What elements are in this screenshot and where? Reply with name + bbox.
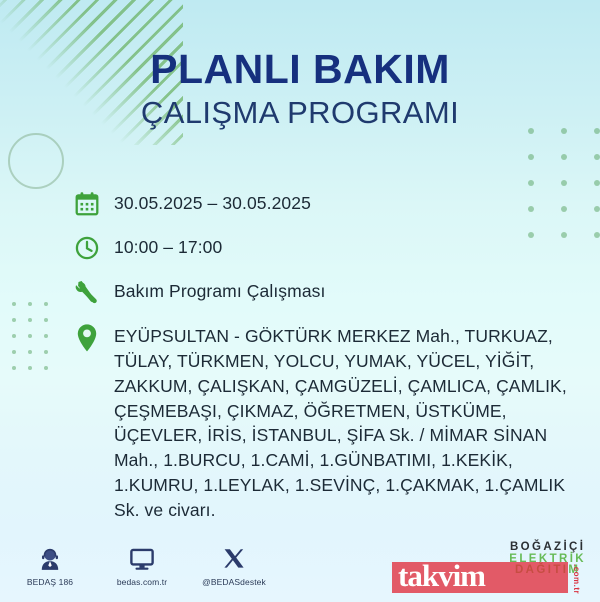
takvim-watermark: takvim .com.tr <box>392 556 592 600</box>
page-title: PLANLI BAKIM <box>0 48 600 91</box>
info-row-work-type: Bakım Programı Çalışması <box>74 278 584 305</box>
info-row-date: 30.05.2025 – 30.05.2025 <box>74 190 584 217</box>
circle-outline-decoration <box>8 133 64 189</box>
watermark-text: takvim <box>398 558 485 594</box>
date-range-text: 30.05.2025 – 30.05.2025 <box>114 190 311 215</box>
planned-maintenance-poster: PLANLI BAKIM ÇALIŞMA PROGRAMI 30.05.2025… <box>0 0 600 602</box>
location-address-text: EYÜPSULTAN - GÖKTÜRK MERKEZ Mah., TURKUA… <box>114 322 584 523</box>
contact-channels: BEDAŞ 186 bedas.com.tr <box>14 544 270 587</box>
tools-icon <box>74 278 114 305</box>
monitor-icon <box>106 544 178 574</box>
contact-phone[interactable]: BEDAŞ 186 <box>14 544 86 587</box>
location-pin-icon <box>74 322 114 353</box>
clock-icon <box>74 234 114 261</box>
poster-title-block: PLANLI BAKIM ÇALIŞMA PROGRAMI <box>0 48 600 130</box>
call-center-agent-icon <box>14 544 86 574</box>
work-type-text: Bakım Programı Çalışması <box>114 278 325 303</box>
watermark-suffix: .com.tr <box>572 564 581 594</box>
contact-twitter-label: @BEDASdestek <box>198 577 270 587</box>
contact-phone-label: BEDAŞ 186 <box>14 577 86 587</box>
x-twitter-icon <box>198 544 270 574</box>
contact-twitter[interactable]: @BEDASdestek <box>198 544 270 587</box>
brand-line-1: BOĞAZİÇİ <box>509 542 586 554</box>
calendar-icon <box>74 190 114 217</box>
dot-grid-left-decoration <box>0 296 54 376</box>
info-rows: 30.05.2025 – 30.05.2025 10:00 – 17:00 Ba… <box>74 190 584 523</box>
time-range-text: 10:00 – 17:00 <box>114 234 222 259</box>
page-subtitle: ÇALIŞMA PROGRAMI <box>0 96 600 130</box>
contact-website-label: bedas.com.tr <box>106 577 178 587</box>
contact-website[interactable]: bedas.com.tr <box>106 544 178 587</box>
info-row-time: 10:00 – 17:00 <box>74 234 584 261</box>
info-row-location: EYÜPSULTAN - GÖKTÜRK MERKEZ Mah., TURKUA… <box>74 322 584 523</box>
